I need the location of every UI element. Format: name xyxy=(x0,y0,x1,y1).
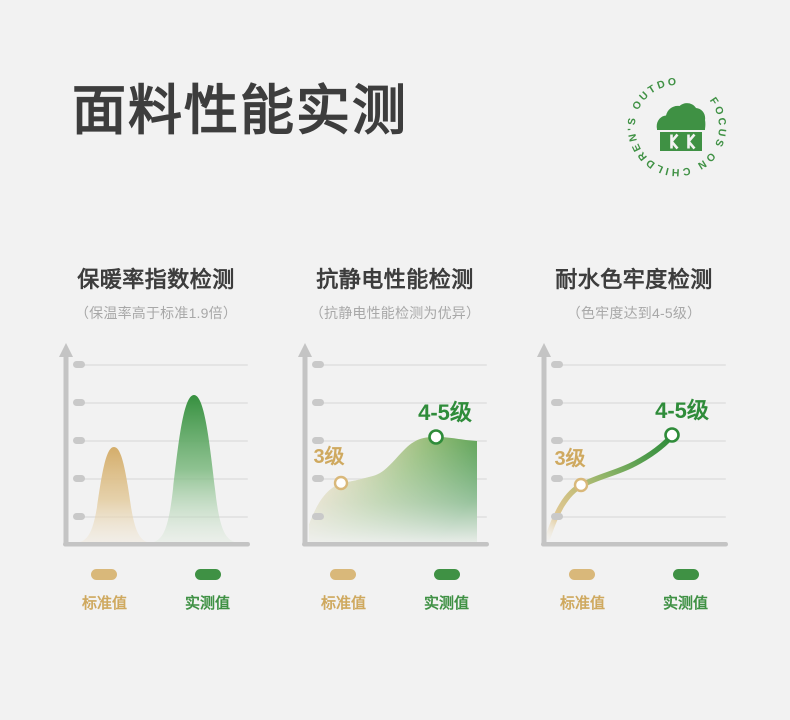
legend-label-measured: 实测值 xyxy=(424,592,469,613)
data-label-standard: 3级 xyxy=(554,446,585,470)
legend-label-standard: 标准值 xyxy=(321,592,366,613)
chart-subtitle: （保温率高于标准1.9倍） xyxy=(75,303,237,323)
y-axis-ticks xyxy=(551,361,563,520)
page-header: 面料性能实测 FOCUS ON CHILDREN'S OUTDOORS xyxy=(0,0,790,230)
data-point-standard xyxy=(575,479,587,491)
chart-card-water-colorfastness: 耐水色牢度检测 （色牢度达到4-5级） xyxy=(520,262,748,613)
chart-title: 保暖率指数检测 xyxy=(77,262,235,294)
chart-plot-anti-static: 3级 4-5级 xyxy=(281,337,509,565)
data-point-standard xyxy=(335,477,347,489)
legend-swatch-measured xyxy=(673,569,699,580)
chart-subtitle: （色牢度达到4-5级） xyxy=(567,303,701,323)
legend-label-standard: 标准值 xyxy=(560,592,605,613)
legend-item-standard: 标准值 xyxy=(82,569,127,613)
brand-monogram xyxy=(660,132,702,151)
legend-swatch-standard xyxy=(330,569,356,580)
chart-card-anti-static: 抗静电性能检测 （抗静电性能检测为优异） xyxy=(281,262,509,613)
y-axis xyxy=(59,343,73,545)
legend-swatch-standard xyxy=(569,569,595,580)
data-label-standard: 3级 xyxy=(313,444,344,468)
series-standard-curve xyxy=(72,447,154,543)
y-axis xyxy=(298,343,312,545)
data-point-measured xyxy=(430,431,443,444)
legend-swatch-measured xyxy=(195,569,221,580)
legend-swatch-measured xyxy=(434,569,460,580)
tree-canopy-icon xyxy=(657,103,706,130)
y-axis xyxy=(537,343,551,545)
x-axis xyxy=(63,542,250,547)
data-label-measured: 4-5级 xyxy=(655,398,709,423)
chart-plot-water-colorfastness: 3级 4-5级 xyxy=(520,337,748,565)
y-axis-ticks xyxy=(312,361,324,520)
chart-plot-warmth-retention xyxy=(42,337,270,565)
x-axis xyxy=(302,542,489,547)
legend-item-measured: 实测值 xyxy=(424,569,469,613)
chart-subtitle: （抗静电性能检测为优异） xyxy=(310,303,480,323)
chart-legend: 标准值 实测值 xyxy=(42,569,270,613)
y-axis-ticks xyxy=(73,361,85,520)
x-axis xyxy=(541,542,728,547)
data-point-measured xyxy=(666,429,679,442)
chart-card-warmth-retention: 保暖率指数检测 （保温率高于标准1.9倍） xyxy=(42,262,270,613)
chart-legend: 标准值 实测值 xyxy=(281,569,509,613)
brand-badge: FOCUS ON CHILDREN'S OUTDOORS xyxy=(620,70,734,184)
legend-label-measured: 实测值 xyxy=(185,592,230,613)
charts-row: 保暖率指数检测 （保温率高于标准1.9倍） xyxy=(0,262,790,613)
chart-title: 抗静电性能检测 xyxy=(316,262,474,294)
legend-label-standard: 标准值 xyxy=(82,592,127,613)
legend-item-standard: 标准值 xyxy=(560,569,605,613)
legend-item-standard: 标准值 xyxy=(321,569,366,613)
legend-swatch-standard xyxy=(91,569,117,580)
series-measured-curve xyxy=(147,395,242,543)
page-title: 面料性能实测 xyxy=(72,82,408,141)
legend-label-measured: 实测值 xyxy=(663,592,708,613)
chart-title: 耐水色牢度检测 xyxy=(555,262,713,294)
legend-item-measured: 实测值 xyxy=(663,569,708,613)
data-label-measured: 4-5级 xyxy=(418,400,472,425)
gridlines xyxy=(554,365,725,517)
chart-legend: 标准值 实测值 xyxy=(520,569,748,613)
legend-item-measured: 实测值 xyxy=(185,569,230,613)
